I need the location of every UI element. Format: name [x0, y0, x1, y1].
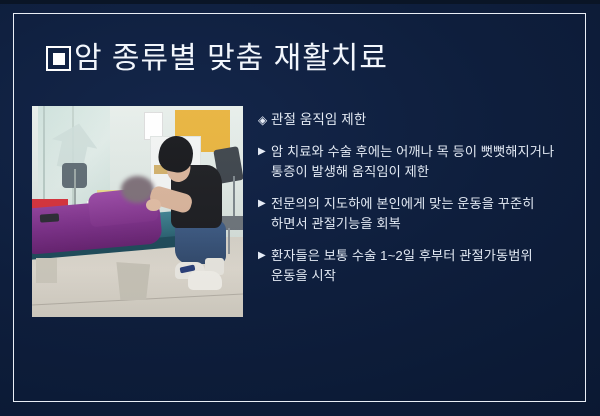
photo-stool-pole — [228, 228, 230, 253]
list-item: ▶ 암 치료와 수술 후에는 어깨나 목 등이 뻣뻣해지거나 통증이 발생해 움… — [258, 142, 566, 182]
photo-patient-arm — [40, 213, 60, 223]
photo-therapist-hand — [146, 199, 161, 212]
list-item: ▶ 환자들은 보통 수술 1~2일 후부터 관절가동범위 운동을 시작 — [258, 246, 566, 286]
photo-treatment-table-leg — [116, 262, 150, 300]
triangle-bullet-icon: ▶ — [258, 246, 271, 266]
list-item-text: 환자들은 보통 수술 1~2일 후부터 관절가동범위 운동을 시작 — [271, 246, 566, 286]
photo-treatment-table-leg-left — [36, 258, 57, 283]
triangle-bullet-icon: ▶ — [258, 194, 271, 214]
title-square-bullet-icon — [46, 46, 71, 71]
list-item: ◈ 관절 움직임 제한 — [258, 110, 566, 130]
rehabilitation-therapy-photo — [32, 106, 243, 317]
presentation-slide: 암 종류별 맞춤 재활치료 — [0, 0, 600, 416]
list-item-text: 관절 움직임 제한 — [271, 110, 366, 130]
diamond-bullet-icon: ◈ — [258, 110, 271, 130]
photo-scene — [32, 106, 243, 317]
list-item-text: 전문의의 지도하에 본인에게 맞는 운동을 꾸준히 하면서 관절기능을 회복 — [271, 194, 566, 234]
triangle-bullet-icon: ▶ — [258, 142, 271, 162]
page-title: 암 종류별 맞춤 재활치료 — [74, 42, 388, 75]
list-item: ▶ 전문의의 지도하에 본인에게 맞는 운동을 꾸준히 하면서 관절기능을 회복 — [258, 194, 566, 234]
list-item-text: 암 치료와 수술 후에는 어깨나 목 등이 뻣뻣해지거나 통증이 발생해 움직임… — [271, 142, 566, 182]
photo-therapist-shoe-front — [188, 271, 222, 290]
bullet-list: ◈ 관절 움직임 제한 ▶ 암 치료와 수술 후에는 어깨나 목 등이 뻣뻣해지… — [258, 110, 566, 298]
slide-title: 암 종류별 맞춤 재활치료 — [46, 42, 388, 75]
